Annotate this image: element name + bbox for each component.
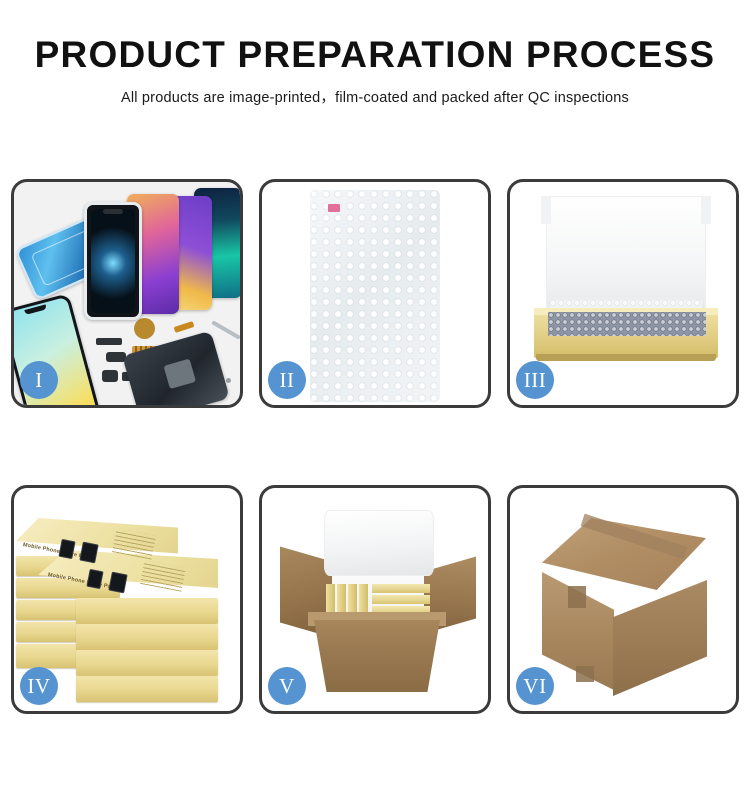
screw-3 — [226, 378, 231, 383]
tray-contents-bubble — [548, 312, 706, 336]
stacked-box-front-3 — [76, 624, 218, 650]
carton-body — [314, 620, 440, 692]
bubble-wrap-bag — [310, 190, 440, 402]
inner-box-h1 — [372, 584, 430, 593]
carton-right-face — [613, 580, 707, 696]
box-lid-white — [546, 196, 706, 316]
process-step-panel-4: Mobile Phone Spare Parts Mobile Phone Sp… — [11, 485, 243, 714]
process-step-panel-5: V — [259, 485, 491, 714]
process-step-panel-6: VI — [507, 485, 739, 714]
step-badge-6: VI — [516, 667, 554, 705]
stacked-box-front-1 — [76, 676, 218, 702]
process-step-panel-1: I — [11, 179, 243, 408]
pink-qc-label — [328, 204, 340, 212]
part-vibrator — [102, 370, 118, 382]
carton-tab-lower — [576, 666, 594, 682]
part-flex-cable-1 — [174, 321, 195, 333]
stacked-box-front-2 — [76, 650, 218, 676]
part-tweezers — [211, 320, 240, 339]
part-speaker-coil — [134, 318, 155, 339]
process-step-grid: I II III — [11, 179, 739, 714]
part-connector-bar — [96, 338, 122, 345]
page-title: PRODUCT PREPARATION PROCESS — [0, 36, 750, 75]
stacked-box-front-4 — [76, 598, 218, 624]
step-badge-4: IV — [20, 667, 58, 705]
carton-tab-upper — [568, 586, 586, 608]
phone-back-cover — [122, 331, 230, 405]
inner-box-h2 — [372, 595, 430, 604]
page-subtitle: All products are image-printed，film-coat… — [0, 86, 750, 107]
screen-protector-black — [84, 202, 142, 320]
lid-swatch-2b — [108, 572, 127, 594]
process-step-panel-2: II — [259, 179, 491, 408]
step-badge-3: III — [516, 361, 554, 399]
process-step-panel-3: III — [507, 179, 739, 408]
step-badge-1: I — [20, 361, 58, 399]
foam-lid-open — [324, 510, 434, 576]
step-badge-5: V — [268, 667, 306, 705]
step-badge-2: II — [268, 361, 306, 399]
part-camera-module — [106, 352, 126, 362]
tray-bottom-edge — [536, 354, 716, 361]
